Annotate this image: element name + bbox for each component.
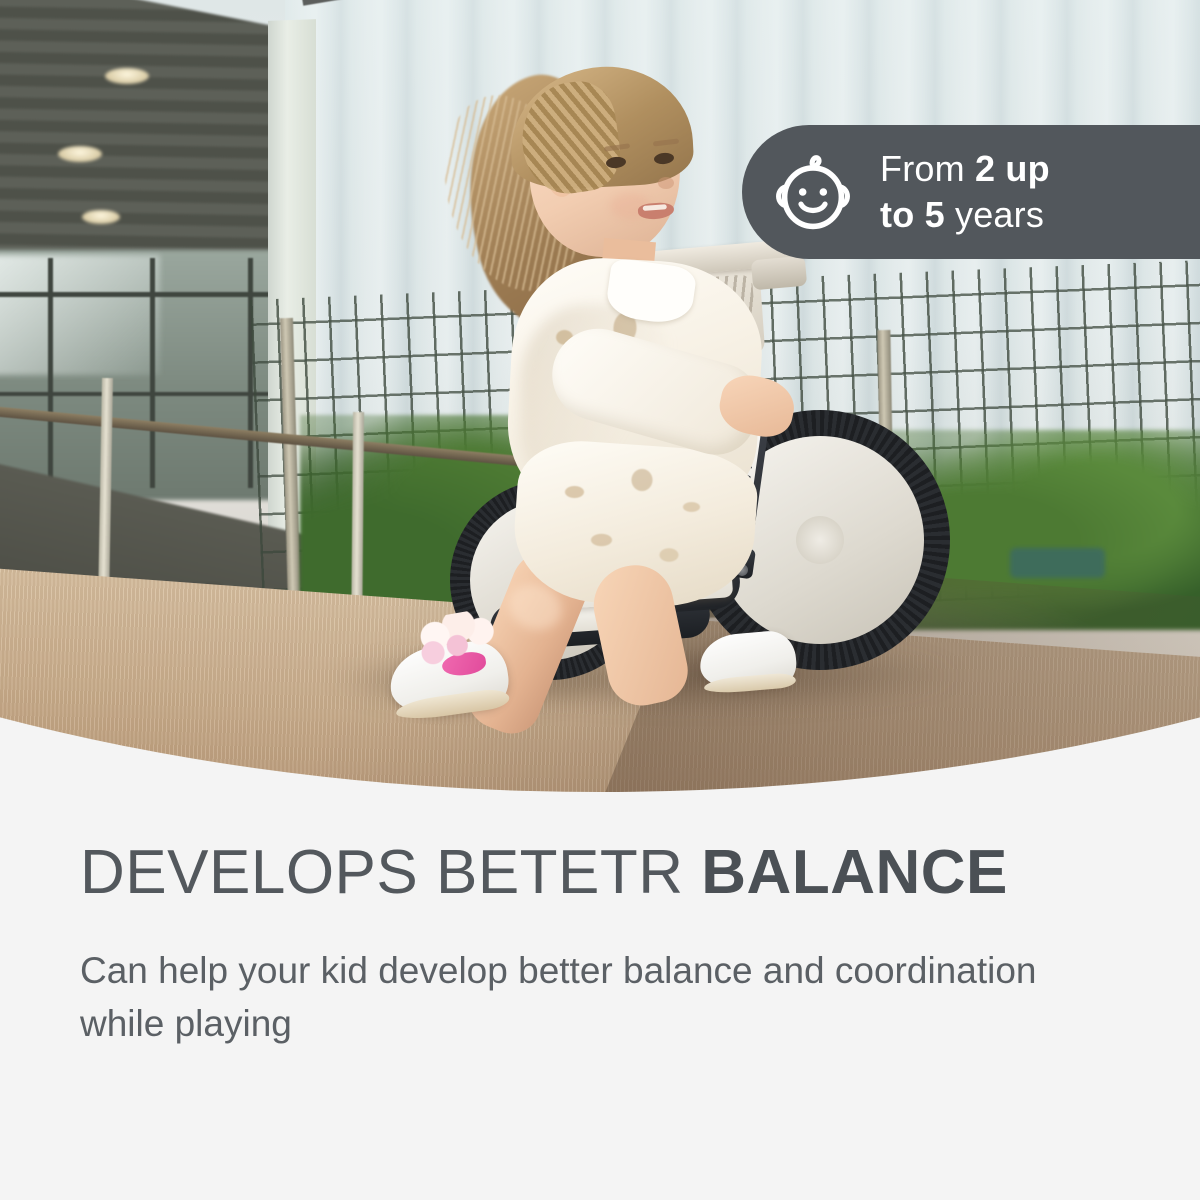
child-rider <box>370 45 790 745</box>
hero-photo: BLACE BLACE BLACE <box>0 0 1200 800</box>
badge-text: From 2 up to 5 years <box>880 146 1050 238</box>
glass-reflection <box>0 255 160 375</box>
shoe-right <box>698 629 799 693</box>
page-subtitle: Can help your kid develop better balance… <box>80 945 1115 1050</box>
downlight-icon <box>82 210 120 224</box>
badge-line1-prefix: From <box>880 148 975 189</box>
headline-light: DEVELOPS BETETR <box>80 838 701 907</box>
badge-line2-bold: to 5 <box>880 194 945 235</box>
caption-block: DEVELOPS BETETR BALANCE Can help your ki… <box>80 840 1140 1050</box>
product-feature-page: BLACE BLACE BLACE <box>0 0 1200 1200</box>
downlight-icon <box>105 68 149 84</box>
baby-face-icon <box>770 149 856 235</box>
badge-line1-bold: 2 up <box>975 148 1050 189</box>
downlight-icon <box>58 146 102 162</box>
headline-bold: BALANCE <box>701 838 1008 907</box>
photo-scene: BLACE BLACE BLACE <box>0 0 1200 800</box>
badge-line2-suffix: years <box>945 194 1044 235</box>
age-range-badge: From 2 up to 5 years <box>742 125 1200 259</box>
nose <box>658 177 674 189</box>
background-object <box>1010 548 1105 578</box>
rear-hub <box>796 516 844 564</box>
page-title: DEVELOPS BETETR BALANCE <box>80 840 1140 905</box>
window-mullion <box>0 292 310 297</box>
